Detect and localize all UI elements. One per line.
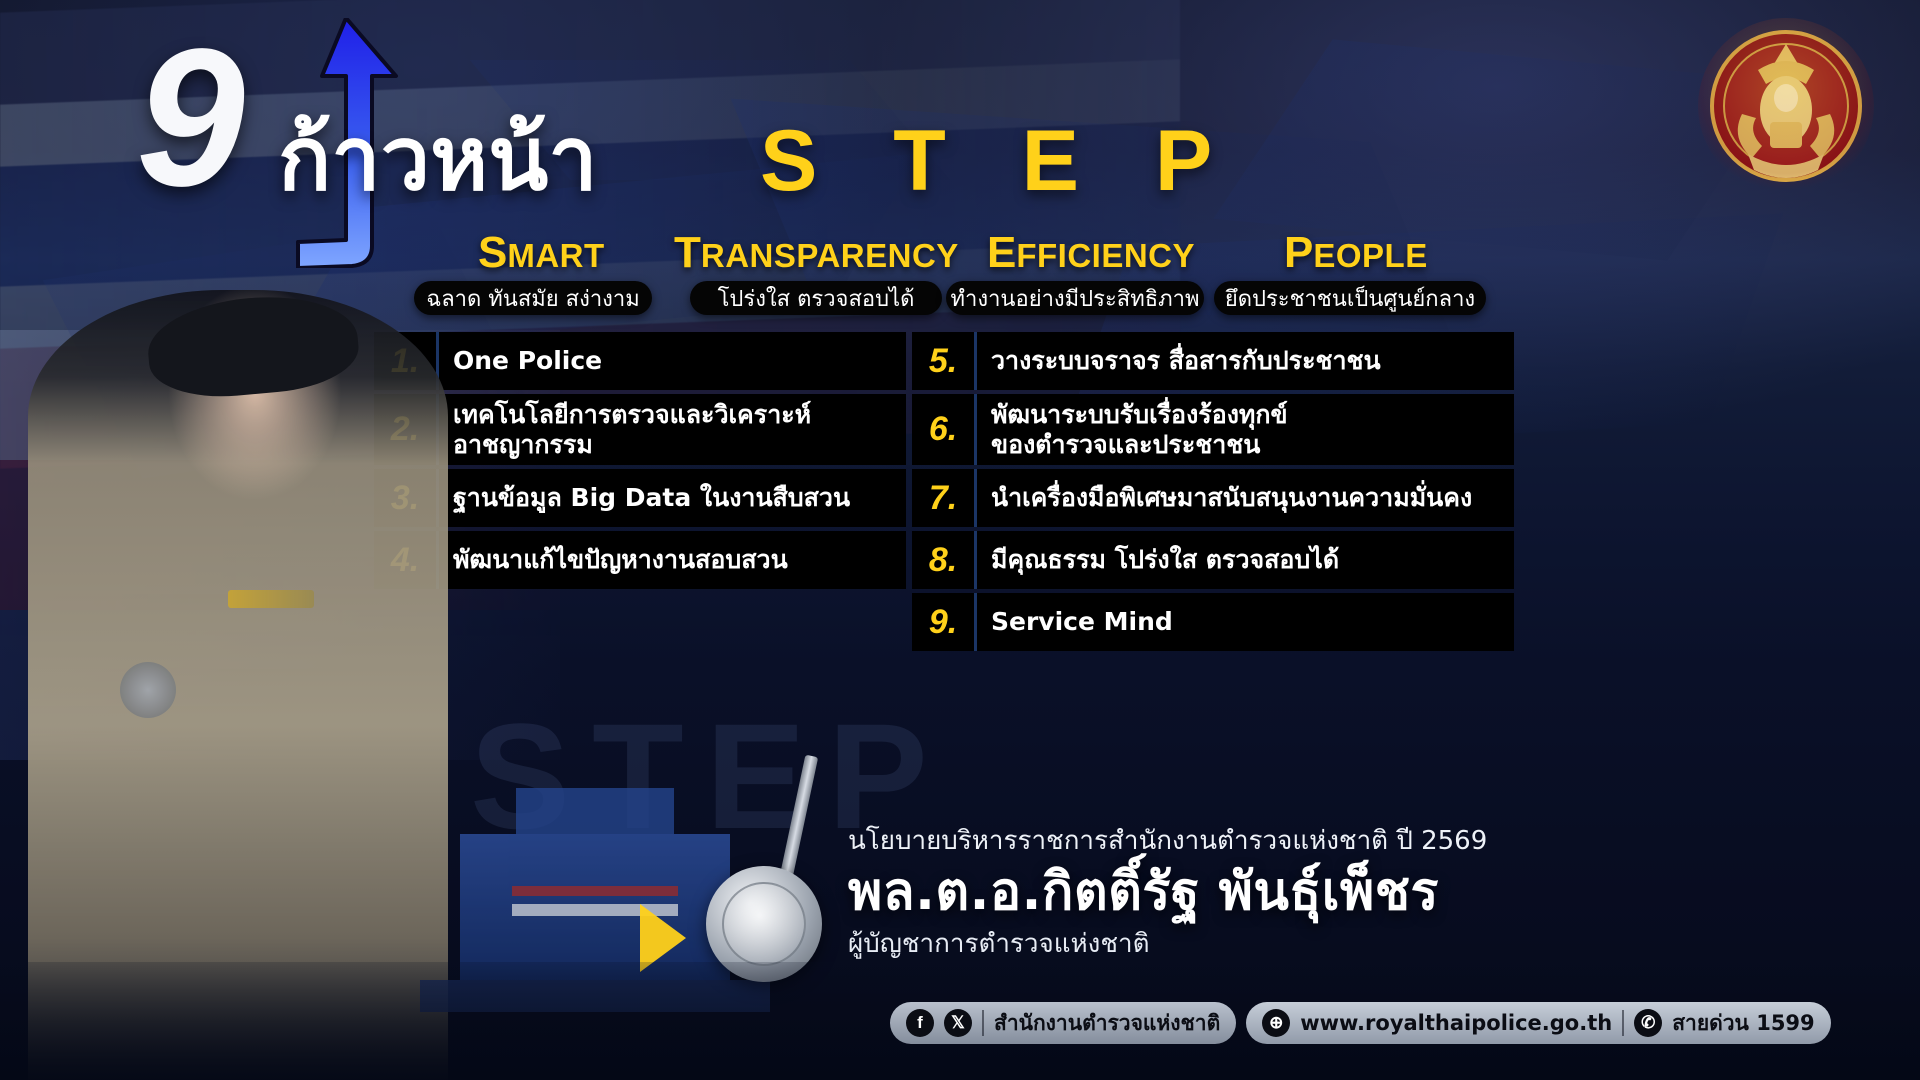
list-item-line: อาชญากรรม	[453, 430, 811, 460]
list-item-line: เทคโนโลยีการตรวจและวิเคราะห์	[453, 400, 811, 430]
globe-icon[interactable]: ⊕	[1262, 1009, 1290, 1037]
list-item-text: One Police	[439, 332, 906, 390]
policy-credit-block: นโยบายบริหารราชการสำนักงานตำรวจแห่งชาติ …	[848, 820, 1628, 964]
step-heading-people: PEOPLE	[1284, 228, 1428, 278]
facebook-icon[interactable]: f	[906, 1009, 934, 1037]
list-item-text: พัฒนาระบบรับเรื่องร้องทุกข์ ของตำรวจและป…	[977, 394, 1514, 465]
footer-bar: f 𝕏 สำนักงานตำรวจแห่งชาติ ⊕ www.royaltha…	[0, 962, 1920, 1080]
list-item: 6. พัฒนาระบบรับเรื่องร้องทุกข์ ของตำรวจแ…	[912, 394, 1514, 465]
step-heading-cap: P	[1284, 228, 1313, 277]
step-acronym-title: S T E P	[760, 112, 1238, 211]
list-item-line: นำเครื่องมือพิเศษมาสนับสนุนงานความมั่นคง	[991, 483, 1472, 513]
step-heading-cap: S	[478, 228, 507, 277]
step-heading-smart: SMART	[478, 228, 605, 278]
headline-number: 9	[136, 22, 239, 214]
list-item: 9. Service Mind	[912, 593, 1514, 651]
list-item: 8. มีคุณธรรม โปร่งใส ตรวจสอบได้	[912, 531, 1514, 589]
list-item-text: เทคโนโลยีการตรวจและวิเคราะห์ อาชญากรรม	[439, 394, 906, 465]
step-pill-efficiency: ทำงานอย่างมีประสิทธิภาพ	[946, 281, 1204, 315]
list-item: 3. ฐานข้อมูล Big Data ในงานสืบสวน	[374, 469, 906, 527]
list-item-text: Service Mind	[977, 593, 1514, 651]
list-item-text: วางระบบจราจร สื่อสารกับประชาชน	[977, 332, 1514, 390]
list-item-line: พัฒนาแก้ไขปัญหางานสอบสวน	[453, 545, 788, 575]
step-headings-row: SMART TRANSPARENCY EFFICIENCY PEOPLE	[372, 228, 1532, 274]
x-twitter-icon[interactable]: 𝕏	[944, 1009, 972, 1037]
list-item-number: 8.	[912, 531, 977, 589]
step-pill-people: ยึดประชาชนเป็นศูนย์กลาง	[1214, 281, 1486, 315]
list-item-text: มีคุณธรรม โปร่งใส ตรวจสอบได้	[977, 531, 1514, 589]
footer-contact-strip: f 𝕏 สำนักงานตำรวจแห่งชาติ ⊕ www.royaltha…	[890, 1002, 1831, 1044]
commissioner-role: ผู้บัญชาการตำรวจแห่งชาติ	[848, 923, 1628, 964]
list-item-line: ของตำรวจและประชาชน	[991, 430, 1288, 460]
policy-list-right: 5. วางระบบจราจร สื่อสารกับประชาชน 6. พัฒ…	[912, 332, 1514, 651]
poster-canvas: STEP 9 ก้าวหน้า S	[0, 0, 1920, 1080]
list-item-text: นำเครื่องมือพิเศษมาสนับสนุนงานความมั่นคง	[977, 469, 1514, 527]
step-heading-rest: FFICIENCY	[1016, 237, 1195, 274]
social-chip[interactable]: f 𝕏 สำนักงานตำรวจแห่งชาติ	[890, 1002, 1236, 1044]
website-chip[interactable]: ⊕ www.royalthaipolice.go.th ✆ สายด่วน 15…	[1246, 1002, 1830, 1044]
list-item-number: 7.	[912, 469, 977, 527]
list-item-text: ฐานข้อมูล Big Data ในงานสืบสวน	[439, 469, 906, 527]
headline-thai-word: ก้าวหน้า	[278, 88, 598, 228]
website-label: www.royalthaipolice.go.th	[1300, 1011, 1612, 1035]
royal-thai-police-emblem-icon	[1698, 18, 1874, 194]
list-item: 2. เทคโนโลยีการตรวจและวิเคราะห์ อาชญากรร…	[374, 394, 906, 465]
step-pill-transparency: โปร่งใส ตรวจสอบได้	[690, 281, 942, 315]
list-item-line: Service Mind	[991, 607, 1173, 637]
step-heading-rest: RANSPARENCY	[701, 237, 959, 274]
shoulder-badge	[120, 662, 176, 718]
list-item-number: 5.	[912, 332, 977, 390]
list-item-line: มีคุณธรรม โปร่งใส ตรวจสอบได้	[991, 545, 1339, 575]
step-heading-rest: EOPLE	[1313, 237, 1427, 274]
step-heading-cap: E	[987, 228, 1016, 277]
list-item: 4. พัฒนาแก้ไขปัญหางานสอบสวน	[374, 531, 906, 589]
list-item-number: 9.	[912, 593, 977, 651]
policy-list-left: 1. One Police 2. เทคโนโลยีการตรวจและวิเค…	[374, 332, 906, 589]
social-handle-label: สำนักงานตำรวจแห่งชาติ	[994, 1007, 1220, 1040]
divider	[1622, 1010, 1624, 1036]
policy-title-line: นโยบายบริหารราชการสำนักงานตำรวจแห่งชาติ …	[848, 820, 1628, 861]
list-item-number: 6.	[912, 394, 977, 465]
list-item: 1. One Police	[374, 332, 906, 390]
step-heading-efficiency: EFFICIENCY	[987, 228, 1195, 278]
step-heading-rest: MART	[507, 237, 604, 274]
list-item: 7. นำเครื่องมือพิเศษมาสนับสนุนงานความมั่…	[912, 469, 1514, 527]
list-item-line: พัฒนาระบบรับเรื่องร้องทุกข์	[991, 400, 1288, 430]
list-item-line: One Police	[453, 346, 602, 376]
hotline-label: สายด่วน 1599	[1672, 1007, 1814, 1040]
rank-ribbon	[228, 590, 314, 608]
divider	[982, 1010, 984, 1036]
step-pill-smart: ฉลาด ทันสมัย สง่างาม	[414, 281, 652, 315]
list-item-text: พัฒนาแก้ไขปัญหางานสอบสวน	[439, 531, 906, 589]
beret-shape	[144, 289, 362, 403]
list-item: 5. วางระบบจราจร สื่อสารกับประชาชน	[912, 332, 1514, 390]
list-item-line: ฐานข้อมูล Big Data ในงานสืบสวน	[453, 483, 850, 513]
ceremonial-baton-icon	[700, 754, 850, 984]
step-heading-transparency: TRANSPARENCY	[674, 228, 959, 278]
list-item-line: วางระบบจราจร สื่อสารกับประชาชน	[991, 346, 1381, 376]
phone-icon[interactable]: ✆	[1634, 1009, 1662, 1037]
commissioner-name: พล.ต.อ.กิตติ์รัฐ พันธุ์เพ็ชร	[848, 863, 1628, 921]
step-heading-cap: T	[674, 228, 701, 277]
